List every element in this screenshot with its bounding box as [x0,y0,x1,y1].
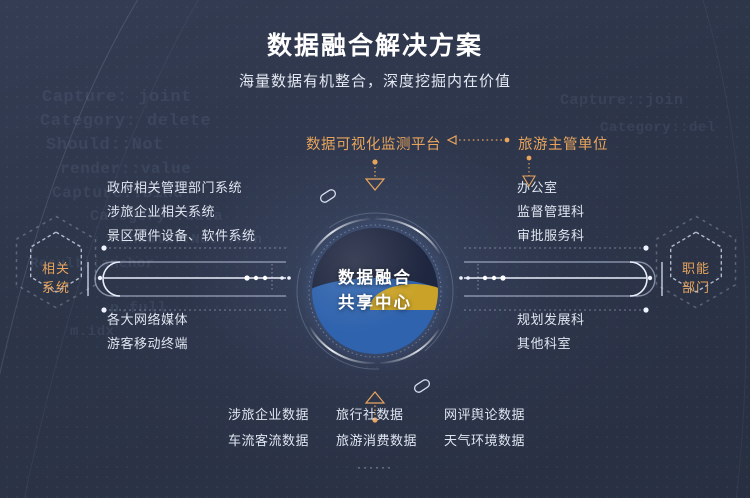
hexagon-right-label: 职能 部门 [654,232,738,324]
ring-capsule-marker-top [319,188,337,203]
top-dotted-arrow-icon [448,136,509,144]
left-sources-top-list: 政府相关管理部门系统 涉旅企业相关系统 景区硬件设备、软件系统 [107,176,256,248]
list-item[interactable]: 涉旅企业相关系统 [107,200,256,224]
list-item[interactable]: 其他科室 [517,332,585,356]
data-cell[interactable]: 网评舆论数据 [444,404,552,430]
right-connector-pipe [464,245,662,312]
watermark-text: Capture::join [560,92,684,109]
hexagon-right-line2: 部门 [682,278,710,297]
left-connector-pipe [88,245,286,312]
page-subtitle: 海量数据有机整合，深度挖掘内在价值 [0,70,750,91]
data-cell[interactable]: 天气环境数据 [444,430,552,456]
label-tourism-authority[interactable]: 旅游主管单位 [518,133,608,154]
list-item[interactable]: 政府相关管理部门系统 [107,176,256,200]
center-line2: 共享中心 [338,291,412,316]
watermark-text: Category: delete [40,112,211,131]
hexagon-right-line1: 职能 [682,259,710,278]
watermark-text: Should::Not [46,136,164,155]
label-visualization-platform[interactable]: 数据可视化监测平台 [306,133,441,154]
center-sphere-label: 数据融合 共享中心 [312,228,438,354]
center-line1: 数据融合 [338,266,412,291]
right-departments-bottom-list: 规划发展科 其他科室 [517,308,585,356]
infographic-canvas: Capture: joint Category: delete Should::… [0,0,750,498]
data-cell[interactable]: 旅游消费数据 [336,430,444,456]
hexagon-functional-departments[interactable]: 职能 部门 [654,232,738,324]
bottom-ellipsis: ······ [0,460,750,474]
right-departments-top-list: 办公室 监督管理科 审批服务科 [517,176,585,248]
ring-side-ticks-right [459,264,478,292]
watermark-text: Category::del [600,120,716,136]
hexagon-left-line2: 系统 [42,278,70,297]
bottom-data-grid: 涉旅企业数据 旅行社数据 网评舆论数据 车流客流数据 旅游消费数据 天气环境数据 [228,404,552,456]
ring-capsule-marker-bottom [413,378,431,393]
list-item[interactable]: 规划发展科 [517,308,585,332]
ring-side-ticks-left [272,264,291,292]
hexagon-related-systems[interactable]: 相关 系统 [14,232,98,324]
hexagon-left-line1: 相关 [42,259,70,278]
list-item[interactable]: 监督管理科 [517,200,585,224]
page-title: 数据融合解决方案 [0,26,750,62]
hexagon-left-label: 相关 系统 [14,232,98,324]
left-sources-bottom-list: 各大网络媒体 游客移动终端 [107,308,188,356]
data-cell[interactable]: 旅行社数据 [336,404,444,430]
list-item[interactable]: 审批服务科 [517,224,585,248]
list-item[interactable]: 景区硬件设备、软件系统 [107,224,256,248]
gold-marker-top [366,159,384,190]
data-cell[interactable]: 车流客流数据 [228,430,336,456]
list-item[interactable]: 各大网络媒体 [107,308,188,332]
data-cell[interactable]: 涉旅企业数据 [228,404,336,430]
list-item[interactable]: 游客移动终端 [107,332,188,356]
list-item[interactable]: 办公室 [517,176,585,200]
